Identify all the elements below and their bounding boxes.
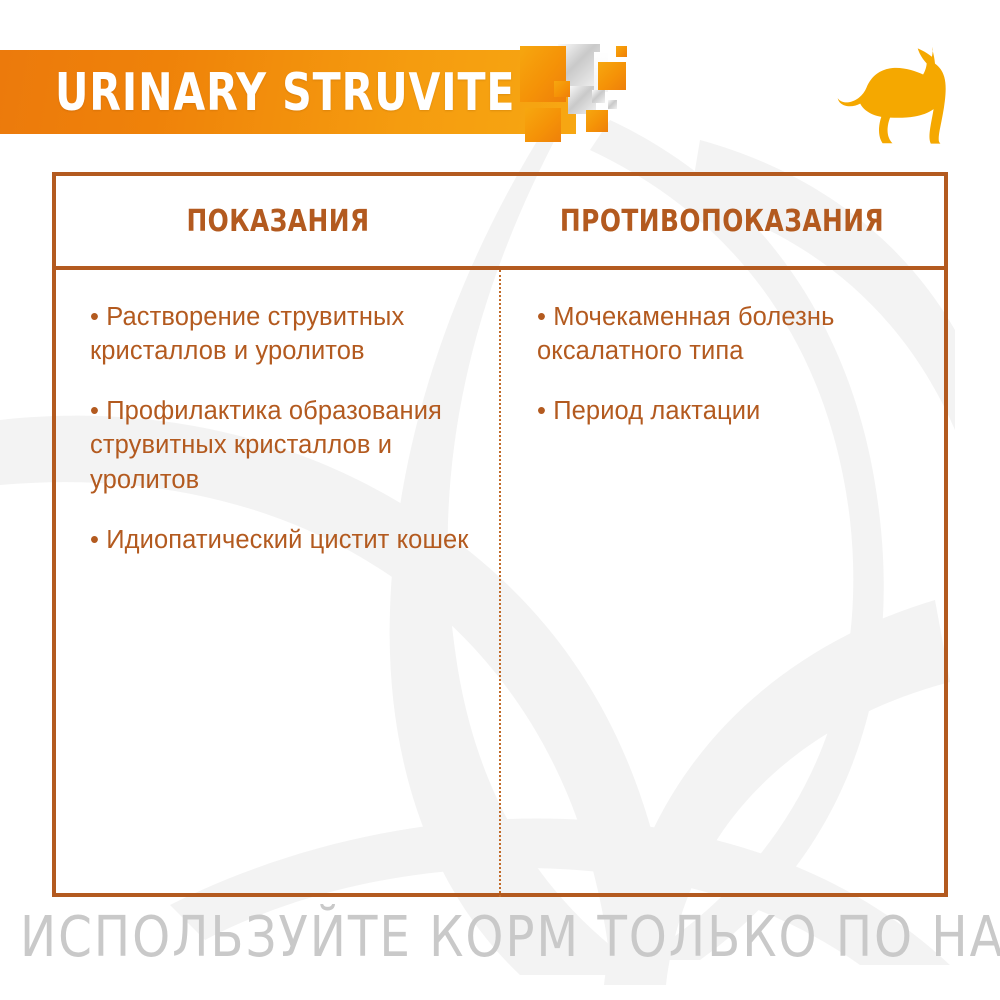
table-header-row: ПОКАЗАНИЯ ПРОТИВОПОКАЗАНИЯ (56, 176, 944, 270)
page-title: URINARY STRUVITE (55, 56, 515, 130)
column-header-indications: ПОКАЗАНИЯ (74, 176, 482, 266)
list-item: • Мочекаменная болезнь оксалатного типа (537, 300, 926, 368)
indications-cell: • Растворение струвитных кристаллов и ур… (56, 270, 497, 897)
column-divider (499, 270, 501, 897)
contraindications-cell: • Мочекаменная болезнь оксалатного типа … (497, 270, 944, 897)
list-item: • Идиопатический цистит кошек (90, 523, 479, 557)
footer-disclaimer: ИСПОЛЬЗУЙТЕ КОРМ ТОЛЬКО ПО НАЗНАЧЕНИЮ ВР… (20, 905, 980, 970)
indications-table: ПОКАЗАНИЯ ПРОТИВОПОКАЗАНИЯ • Растворение… (52, 172, 948, 897)
list-item: • Профилактика образования струвитных кр… (90, 394, 479, 496)
list-item: • Растворение струвитных кристаллов и ур… (90, 300, 479, 368)
column-header-contraindications: ПРОТИВОПОКАЗАНИЯ (518, 176, 926, 266)
cat-silhouette-icon (836, 44, 962, 146)
decorative-squares-icon (520, 42, 650, 142)
poster-canvas: URINARY STRUVITE (0, 0, 1000, 1000)
table-body-row: • Растворение струвитных кристаллов и ур… (56, 270, 944, 897)
list-item: • Период лактации (537, 394, 926, 428)
